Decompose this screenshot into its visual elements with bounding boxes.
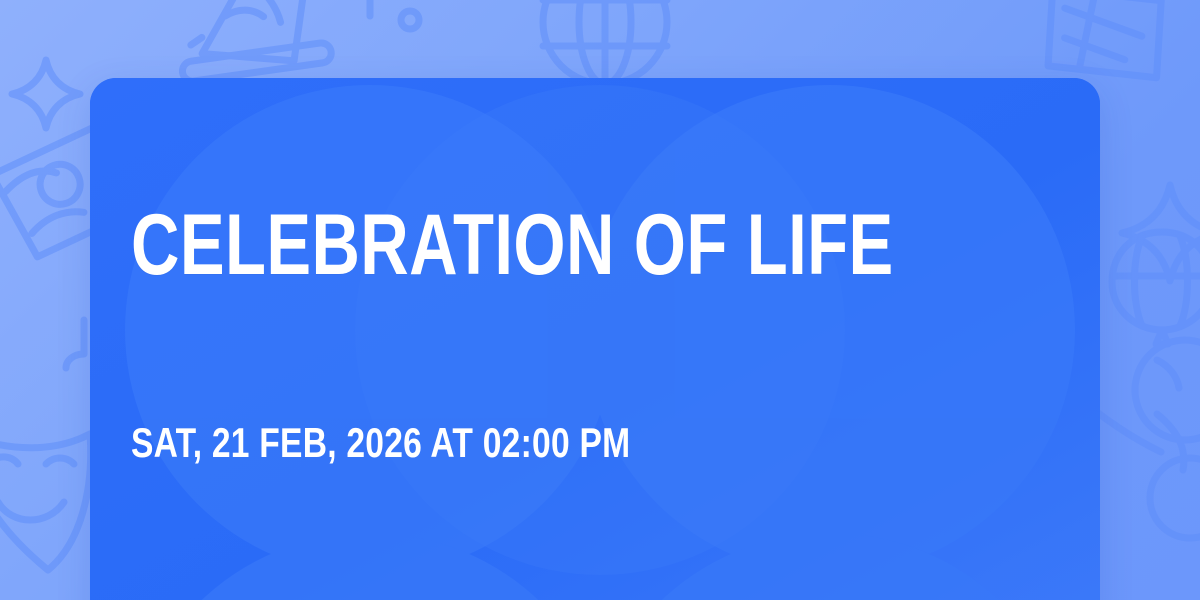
event-datetime: SAT, 21 FEB, 2026 AT 02:00 PM	[131, 422, 630, 464]
page-title: CELEBRATION OF LIFE	[131, 206, 894, 285]
card-text-block: CELEBRATION OF LIFE SAT, 21 FEB, 2026 AT…	[131, 78, 1061, 600]
event-banner: CELEBRATION OF LIFE SAT, 21 FEB, 2026 AT…	[0, 0, 1200, 600]
globe-icon	[543, 0, 667, 84]
sparkle-icon	[12, 60, 80, 128]
music-note-icon	[66, 320, 84, 368]
party-popper-icon	[170, 0, 332, 82]
confetti-icon	[370, 0, 419, 29]
event-card[interactable]: CELEBRATION OF LIFE SAT, 21 FEB, 2026 AT…	[90, 78, 1100, 600]
